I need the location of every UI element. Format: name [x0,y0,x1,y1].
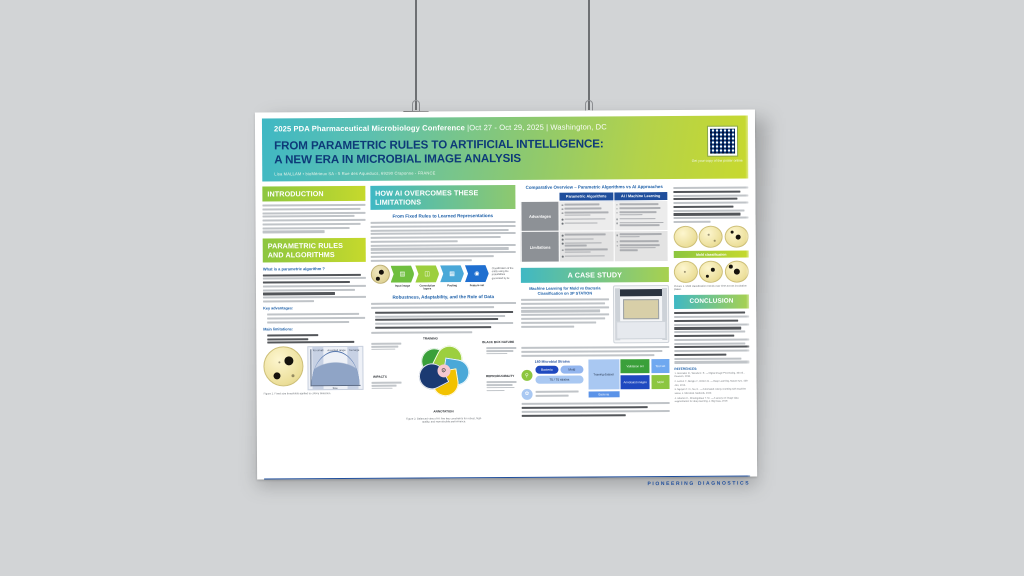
grid-icon: ◫ [424,270,430,277]
subheading-fixed-rules-to-learned: From Fixed Rules to Learned Representati… [370,213,515,219]
how-ai-body-text [370,221,515,262]
column-comparison-and-case-study: Comparative Overview – Parametric Algori… [520,184,670,473]
subheading-what-is-parametric: What is a parametric algorithm ? [263,265,366,271]
cell-limitations-ai [614,231,669,262]
references-heading: REFERENCES: [674,366,749,370]
threshold-chart: Too small Accepted range Too large Size [307,346,363,390]
introduction-body-text [262,204,365,233]
poster-columns: INTRODUCTION PARAMETRIC RULES AND ALGORI… [262,184,750,475]
pipeline-input-image-icon [371,265,390,284]
filter-icon: ▦ [449,270,455,277]
limitations-list [263,334,366,344]
dataset-pill-split: 75 / 75 strains [535,375,583,384]
figure-2-caption: Figure 2. Balanced view of AI: five key … [405,417,482,423]
conference-dates-location: |Oct 27 - Oct 29, 2025 | Washington, DC [467,122,607,132]
title-line-1: FROM PARAMETRIC RULES TO ARTIFICIAL INTE… [274,137,629,153]
advantages-list [263,313,366,323]
3p-station-instrument-image [613,285,669,343]
conclusion-body-text [674,312,749,364]
pipeline-output-note: Classification of the entity using the p… [490,267,516,281]
case-study-body-text [521,298,609,327]
wheel-text-training [371,343,401,352]
column-how-ai-overcomes: HOW AI OVERCOMES THESE LIMITATIONS From … [370,185,517,474]
column-introduction: INTRODUCTION PARAMETRIC RULES AND ALGORI… [262,186,366,475]
petri-dish-image [263,347,303,387]
conference-name: 2025 PDA Pharmaceutical Microbiology Con… [274,123,465,133]
table-row: Advantages [521,201,668,232]
pipeline-output-note-wrap: Classification of the entity using the p… [490,267,516,281]
ai-constraints-wheel: ⚙ TRAINING BLACK BOX NATURE REPRODUCIBIL… [371,336,517,423]
pipeline-label-2-text: Convolution layers [415,284,439,290]
table-row: Limitations [521,231,668,262]
case-study-subtitle-line-2: Classification on 3P STATION [521,290,609,296]
pipeline-label-3-text: Pooling [440,284,464,287]
petri-dish-2 [699,226,723,248]
pipeline-label-4-text: Feature set [465,284,489,287]
wheel-label-impacts: ANNOTATION [433,409,453,413]
references-list: 1. Gonzalez R., Woods R. E. — Digital Im… [674,371,749,404]
section-heading-case-study: A CASE STUDY [521,267,669,283]
pipeline-label-1-text: Input image [391,284,415,287]
row-label-advantages: Advantages [521,201,559,232]
treemap-cell-mold: Mold [651,375,669,390]
figure-1-caption: Figure 1. Fixed size thresholds applied … [264,392,367,396]
wheel-label-annotation: IMPACTS [373,375,387,379]
reference-item: 3. Nguyen T. H., Nu, K. — Automated colo… [675,388,750,396]
treemap-cell-training: Training dataset [588,359,619,390]
pipeline-label-1: Input image [391,284,415,290]
wheel-text-reproducibility [486,381,516,393]
challenges-closing-text [371,331,516,334]
parametric-heading-line-2: AND ALGORITHMS [268,249,361,259]
pipeline-labels: Input image Convolution layers Pooling F… [371,284,516,291]
brand-logo: PIONEERING DIAGNOSTICS [647,481,750,488]
comparison-table-title: Comparative Overview – Parametric Algori… [520,184,668,190]
cnn-pipeline-diagram: ▤ ◫ ▦ ◉ Classification of the entity usi… [371,264,516,284]
chart-band-label-accepted: Accepted range [327,349,345,352]
case-study-closing-text [522,402,670,416]
section-heading-parametric-rules: PARAMETRIC RULES AND ALGORITHMS [263,237,366,262]
table-col-parametric: Parametric Algorithms [559,192,613,201]
petri-dish-4 [674,261,698,283]
dataset-figure-row: 150 Microbial Strains ⚲ Bacteria Mold 75… [521,359,669,401]
cell-advantages-parametric [559,201,614,232]
petri-dish-3 [725,226,749,248]
conference-poster: 2025 PDA Pharmaceutical Microbiology Con… [255,109,757,479]
qr-caption: Get your copy of the poster online [690,159,744,163]
pipeline-step-1: ▤ [391,265,415,282]
image-icon: ▤ [400,271,406,278]
petri-dish-5 [699,261,723,283]
treemap-cell-test: Test set [651,359,669,374]
author-affiliation: Lisa MALLAM • bioMérieux SA - 5 Rue des … [274,168,739,176]
dataset-title: 150 Microbial Strains [521,359,583,363]
table-corner-cell [521,192,559,201]
title-line-2: A NEW ERA IN MICROBIAL IMAGE ANALYSIS [274,151,629,167]
picture-1-caption: Picture 1. Mold classification trends ov… [674,285,749,291]
conference-line: 2025 PDA Pharmaceutical Microbiology Con… [274,123,739,133]
dataset-pill-bacteria: Bacteria [535,365,558,374]
dataset-treemap: Training dataset Validation set Test set… [588,359,669,397]
pipeline-step-3: ▦ [440,265,464,282]
wheel-graphic: ⚙ [412,338,476,402]
case-study-subtitle: Machine Learning for Mold vs Bacteria Cl… [521,285,609,296]
treemap-cell-validation: Validation set [620,359,649,374]
chart-x-axis-label: Size [333,387,338,390]
hanging-wire-left [415,0,417,110]
page-title: FROM PARAMETRIC RULES TO ARTIFICIAL INTE… [274,137,629,167]
magnifier-icon: ⚲ [521,370,532,381]
robustness-body-text [371,302,516,309]
row-label-limitations: Limitations [521,232,559,263]
figure-1-row: Too small Accepted range Too large Size [263,346,366,391]
reference-item: 4. Shorten C., Khoshgoftaar T. M. — A su… [675,396,750,404]
column-results-conclusion: Mold classification Picture 1. Mold clas… [673,184,750,472]
section-heading-conclusion: CONCLUSION [674,295,749,309]
reference-item: 2. LeCun Y., Bengio Y., Hinton G. — Deep… [674,379,749,387]
case-study-variant-text [521,346,669,357]
pipeline-step-2: ◫ [415,265,439,282]
treemap-cell-bacteria: Bacteria [588,391,619,397]
section-heading-introduction: INTRODUCTION [262,186,365,202]
subheading-robustness: Robustness, Adaptability, and the Role o… [371,294,516,300]
comparison-table: Parametric Algorithms AI / Machine Learn… [520,191,669,263]
subheading-key-advantages: Key advantages: [263,306,366,311]
wheel-label-reproducibility: REPRODUCIBILITY [486,374,514,378]
case-study-row: Machine Learning for Mold vs Bacteria Cl… [521,285,669,344]
petri-row-bottom [674,261,749,283]
chart-band-label-too-large: Too large [349,349,360,352]
reference-item: 1. Gonzalez R., Woods R. E. — Digital Im… [674,371,749,379]
challenges-bullet-list [371,311,516,329]
gear-icon: ⚙ [437,364,450,377]
table-col-ai: AI / Machine Learning [613,192,667,201]
network-icon: ◉ [474,270,479,277]
wheel-text-annotation [371,382,401,391]
mold-classification-bar: Mold classification [674,251,749,259]
pipeline-label-3: Pooling [440,284,464,290]
pipeline-step-4: ◉ [465,265,489,282]
pipeline-label-2: Convolution layers [415,284,439,290]
petri-dish-6 [725,261,749,283]
petri-dish-1 [674,226,698,248]
parametric-body-text [263,273,366,302]
wheel-text-blackbox [486,347,516,356]
chart-band-label-too-small: Too small [312,350,323,353]
cell-advantages-ai [613,201,668,232]
wheel-label-blackbox: BLACK BOX NATURE [482,340,514,344]
hanging-wire-right [588,0,590,110]
qr-code-icon[interactable] [708,127,737,156]
pipeline-label-4: Feature set [465,284,489,290]
results-intro-text [673,187,748,224]
petri-row-top [674,226,749,248]
treemap-cell-annotated: Annotated images [621,375,650,390]
section-heading-how-ai: HOW AI OVERCOMES THESE LIMITATIONS [370,185,515,210]
microbe-icon: ✿ [521,389,532,400]
poster-footer: PIONEERING DIAGNOSTICS [264,476,750,492]
cell-limitations-parametric [559,231,614,262]
subheading-main-limitations: Main limitations: [263,327,366,332]
wheel-label-training: TRAINING [423,337,438,341]
poster-header: 2025 PDA Pharmaceutical Microbiology Con… [262,116,748,182]
dataset-pill-mold: Mold [560,365,583,374]
